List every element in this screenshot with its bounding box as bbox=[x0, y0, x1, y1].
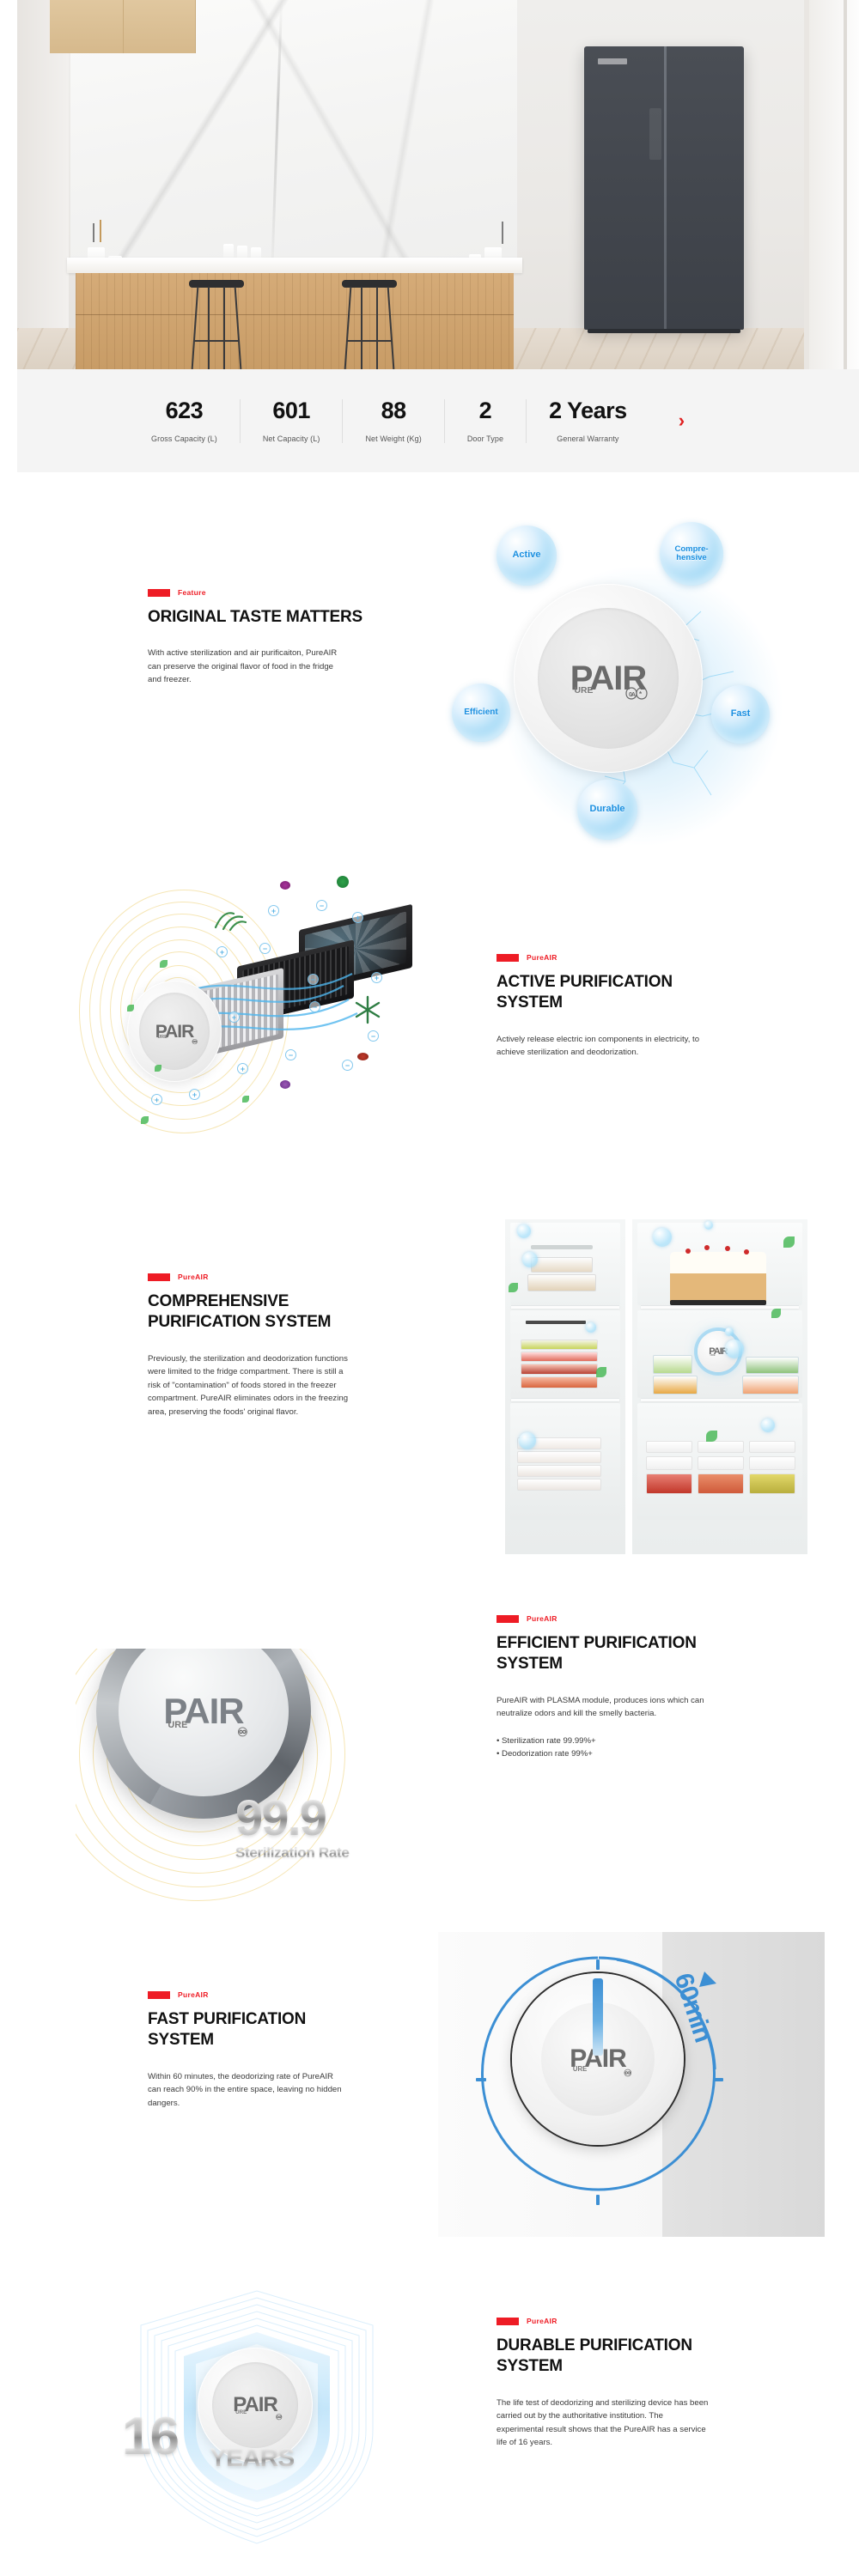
spec-item: 623 Gross Capacity (L) bbox=[129, 399, 241, 443]
section-bullets: • Sterilization rate 99.99%+ • Deodoriza… bbox=[497, 1735, 780, 1761]
spec-item: 601 Net Capacity (L) bbox=[241, 399, 344, 443]
dial-tick bbox=[596, 1959, 600, 1970]
bubble-label: Fast bbox=[731, 709, 751, 720]
food-container bbox=[531, 1257, 593, 1273]
pureair-logo-ure: URE bbox=[573, 2066, 587, 2073]
section-body: Within 60 minutes, the deodorizing rate … bbox=[148, 2070, 344, 2111]
next-arrow-icon[interactable]: › bbox=[679, 411, 685, 430]
pureair-logo: PAIR URE ♾ bbox=[155, 1023, 194, 1041]
service-life-number: 16 bbox=[122, 2406, 178, 2467]
negative-ion-icon: − bbox=[285, 1049, 296, 1060]
spec-label: Net Capacity (L) bbox=[263, 434, 320, 443]
tag-bar-icon bbox=[148, 1273, 170, 1281]
pureair-fresh-mark-icon: ♾ bbox=[237, 1726, 247, 1738]
island-seam bbox=[76, 314, 514, 315]
section-title: COMPREHENSIVE PURIFICATION SYSTEM bbox=[148, 1291, 362, 1334]
snowflake-icon bbox=[352, 994, 383, 1025]
section-body: Previously, the sterilization and deodor… bbox=[148, 1352, 350, 1419]
sterilization-rate-number: 99.9 bbox=[235, 1789, 326, 1847]
tag-bar-icon bbox=[497, 954, 519, 962]
section-title: EFFICIENT PURIFICATION SYSTEM bbox=[497, 1633, 711, 1675]
ion-bubble-icon bbox=[519, 1432, 536, 1449]
svg-text:*: * bbox=[639, 690, 643, 698]
positive-ion-icon: + bbox=[237, 1063, 248, 1074]
spec-label: General Warranty bbox=[549, 434, 627, 443]
section-efficient-purification: PAIR URE ♾ 99.9 Sterilization Rate PureA… bbox=[0, 1614, 859, 1941]
produce-bin bbox=[646, 1473, 692, 1494]
section-active-purification: PAIR URE ♾ + − + − + + − − bbox=[0, 867, 859, 1194]
negative-ion-icon: − bbox=[368, 1030, 379, 1042]
tag-label: PureAIR bbox=[527, 2317, 557, 2325]
pureair-logo-air: AIR bbox=[184, 1691, 243, 1731]
glass-container bbox=[653, 1376, 698, 1394]
section-tag: PureAIR bbox=[148, 1990, 431, 1999]
section-title: ACTIVE PURIFICATION SYSTEM bbox=[497, 972, 720, 1014]
odor-particle-icon bbox=[127, 1005, 134, 1012]
ion-bubble-icon bbox=[522, 1252, 538, 1267]
spec-value: 623 bbox=[151, 399, 217, 422]
bullet-item: • Sterilization rate 99.99%+ bbox=[497, 1735, 780, 1748]
pureair-logo-ure: URE bbox=[168, 1721, 187, 1730]
produce-bin bbox=[698, 1473, 744, 1494]
bubble-label: Efficient bbox=[464, 708, 497, 718]
svg-text:0A: 0A bbox=[629, 692, 636, 698]
negative-ion-icon: − bbox=[342, 1060, 353, 1071]
bar-stool-right bbox=[342, 280, 397, 369]
dial-tick bbox=[476, 2078, 486, 2081]
positive-ion-icon: + bbox=[228, 1012, 240, 1023]
pureair-logo: PAIR URE ♾ bbox=[233, 2395, 277, 2415]
dial-tick bbox=[713, 2078, 723, 2081]
pureair-logo: PAIR URE ♾ bbox=[163, 1693, 243, 1729]
pureair-logo-air: AIR bbox=[584, 2044, 626, 2073]
pureair-logo-air: AIR bbox=[165, 1022, 193, 1042]
pureair-logo-air: AIR bbox=[244, 2393, 277, 2416]
germ-icon bbox=[357, 1053, 369, 1060]
crisper-drawer bbox=[749, 1441, 795, 1453]
bubble-active: Active bbox=[497, 526, 557, 586]
section-durable-purification: PAIR URE ♾ 16 YEARS PureAIR DURABLE PURI… bbox=[0, 2267, 859, 2576]
fridge-interior-photo: PAIR URE bbox=[632, 1219, 807, 1554]
tag-bar-icon bbox=[497, 2318, 519, 2325]
section-text-block: Feature ORIGINAL TASTE MATTERS With acti… bbox=[148, 588, 431, 687]
positive-ion-icon: + bbox=[352, 912, 363, 923]
produce-bin bbox=[749, 1473, 795, 1494]
sterilization-rate-caption: Sterilization Rate bbox=[235, 1844, 350, 1862]
positive-ion-icon: + bbox=[216, 946, 228, 957]
glass-container bbox=[746, 1357, 799, 1374]
section-body: PureAIR with PLASMA module, produces ion… bbox=[497, 1694, 713, 1721]
tag-bar-icon bbox=[148, 589, 170, 597]
sixteen-years-shield-visual: PAIR URE ♾ 16 YEARS bbox=[86, 2275, 429, 2567]
section-text-block: PureAIR COMPREHENSIVE PURIFICATION SYSTE… bbox=[148, 1273, 431, 1419]
pureair-logo-ure: URE bbox=[235, 2410, 247, 2415]
odor-particle-icon bbox=[771, 1309, 781, 1318]
pureair-disc-inner: PAIR URE ♾ bbox=[212, 2362, 298, 2448]
ion-bubble-icon bbox=[517, 1224, 531, 1238]
negative-ion-icon: − bbox=[308, 974, 319, 985]
pureair-disc-inner: PAIR URE 0A * bbox=[538, 608, 679, 749]
odor-particle-icon bbox=[596, 1367, 606, 1377]
odor-particle-icon bbox=[242, 1096, 249, 1103]
food-container bbox=[521, 1376, 598, 1388]
section-body: The life test of deodorizing and sterili… bbox=[497, 2397, 710, 2450]
positive-ion-icon: + bbox=[268, 905, 279, 916]
ion-bubble-icon bbox=[704, 1221, 713, 1230]
bubble-durable: Durable bbox=[577, 780, 637, 840]
kitchen-island bbox=[76, 273, 514, 369]
ion-bubble-icon bbox=[725, 1340, 744, 1358]
pureair-disc: PAIR URE ♾ bbox=[127, 981, 222, 1082]
pureair-hub-diagram: PAIR URE 0A * Active Compre-hensive bbox=[455, 515, 859, 884]
window-frame bbox=[804, 0, 859, 369]
crisper-drawer bbox=[646, 1441, 692, 1453]
bubble-fast: Fast bbox=[711, 685, 770, 744]
pureair-logo-ure: URE bbox=[574, 687, 593, 696]
frozen-food-pack bbox=[517, 1479, 601, 1491]
spec-summary-bar: 623 Gross Capacity (L) 601 Net Capacity … bbox=[17, 369, 859, 472]
tag-label: PureAIR bbox=[178, 1990, 209, 1999]
bubble-label: Compre-hensive bbox=[660, 545, 723, 562]
hero-banner bbox=[0, 0, 859, 369]
section-original-taste: Feature ORIGINAL TASTE MATTERS With acti… bbox=[0, 515, 859, 884]
bar-stool-left bbox=[189, 280, 244, 369]
glass-container bbox=[653, 1355, 692, 1374]
spec-label: Gross Capacity (L) bbox=[151, 434, 217, 443]
section-title: ORIGINAL TASTE MATTERS bbox=[148, 607, 431, 628]
section-title: DURABLE PURIFICATION SYSTEM bbox=[497, 2336, 711, 2378]
tag-bar-icon bbox=[497, 1615, 519, 1623]
freezer-interior-photo bbox=[505, 1219, 625, 1554]
tag-label: Feature bbox=[178, 588, 206, 597]
section-text-block: PureAIR FAST PURIFICATION SYSTEM Within … bbox=[148, 1990, 431, 2110]
section-tag: PureAIR bbox=[497, 953, 780, 962]
spec-value: 2 bbox=[467, 399, 503, 422]
ion-bubble-icon bbox=[725, 1327, 734, 1336]
negative-ion-icon: − bbox=[309, 1001, 320, 1012]
tag-label: PureAIR bbox=[527, 1614, 557, 1623]
germ-icon bbox=[280, 1080, 290, 1089]
germ-icon bbox=[280, 881, 290, 890]
glass-container bbox=[742, 1376, 799, 1394]
bubble-label: Durable bbox=[590, 805, 625, 815]
spec-label: Door Type bbox=[467, 434, 503, 443]
left-wall bbox=[17, 0, 69, 369]
bubble-label: Active bbox=[512, 550, 540, 561]
plasma-module-exploded-illustration: PAIR URE ♾ + − + − + + − − bbox=[69, 867, 464, 1194]
tag-bar-icon bbox=[148, 1991, 170, 1999]
upper-cabinet bbox=[50, 0, 196, 53]
herb-icon bbox=[213, 908, 247, 933]
positive-ion-icon: + bbox=[151, 1094, 162, 1105]
germ-icon bbox=[337, 876, 349, 888]
ion-bubble-icon bbox=[761, 1419, 775, 1432]
negative-ion-icon: − bbox=[259, 943, 271, 954]
section-body: With active sterilization and air purifi… bbox=[148, 647, 341, 687]
pureair-fresh-mark-icon: 0A * bbox=[625, 687, 648, 702]
spec-value: 2 Years bbox=[549, 399, 627, 422]
service-life-unit: YEARS bbox=[210, 2444, 294, 2473]
spec-list: 623 Gross Capacity (L) 601 Net Capacity … bbox=[129, 399, 649, 443]
section-text-block: PureAIR ACTIVE PURIFICATION SYSTEM Activ… bbox=[497, 953, 780, 1060]
pureair-logo: PAIR URE 0A * bbox=[570, 661, 647, 696]
pureair-logo-ure: URE bbox=[157, 1036, 168, 1040]
spec-item: 88 Net Weight (Kg) bbox=[343, 399, 444, 443]
dial-needle bbox=[593, 1978, 603, 2056]
section-tag: Feature bbox=[148, 588, 431, 597]
crisper-drawer bbox=[698, 1441, 744, 1453]
fridge-freezer-interior-photos: PAIR URE bbox=[505, 1219, 807, 1554]
crisper-drawer bbox=[698, 1456, 744, 1470]
crisper-drawer bbox=[749, 1456, 795, 1470]
refrigerator-product bbox=[584, 46, 744, 330]
section-tag: PureAIR bbox=[148, 1273, 431, 1281]
spec-value: 88 bbox=[365, 399, 421, 422]
control-panel bbox=[649, 108, 661, 160]
positive-ion-icon: + bbox=[371, 972, 382, 983]
odor-particle-icon bbox=[160, 960, 168, 968]
section-comprehensive-purification: PureAIR COMPREHENSIVE PURIFICATION SYSTE… bbox=[0, 1219, 859, 1580]
spec-value: 601 bbox=[263, 399, 320, 422]
cake-item bbox=[670, 1252, 766, 1303]
section-tag: PureAIR bbox=[497, 1614, 780, 1623]
frozen-food-pack bbox=[517, 1451, 601, 1463]
pureair-fresh-mark-icon: ♾ bbox=[624, 2069, 631, 2079]
crisper-drawer bbox=[646, 1456, 692, 1470]
section-tag: PureAIR bbox=[497, 2317, 780, 2325]
negative-ion-icon: − bbox=[316, 900, 327, 911]
spec-item: 2 Door Type bbox=[445, 399, 527, 443]
odor-particle-icon bbox=[509, 1283, 518, 1292]
tag-label: PureAIR bbox=[178, 1273, 209, 1281]
brand-logo-on-door bbox=[598, 58, 627, 64]
section-body: Actively release electric ion components… bbox=[497, 1033, 711, 1060]
bullet-item: • Deodorization rate 99%+ bbox=[497, 1747, 780, 1761]
pureair-disc-inner: PAIR URE ♾ bbox=[139, 993, 210, 1070]
odor-particle-icon bbox=[155, 1065, 161, 1072]
frozen-food-pack bbox=[517, 1465, 601, 1477]
food-container bbox=[527, 1274, 596, 1291]
food-container bbox=[521, 1364, 598, 1375]
pureair-disc: PAIR URE 0A * bbox=[514, 584, 703, 773]
fridge-base bbox=[588, 329, 740, 333]
positive-ion-icon: + bbox=[189, 1089, 200, 1100]
pureair-fresh-mark-icon: ♾ bbox=[276, 2414, 282, 2421]
food-container bbox=[521, 1352, 598, 1362]
section-text-block: PureAIR EFFICIENT PURIFICATION SYSTEM Pu… bbox=[497, 1614, 780, 1761]
ion-bubble-icon bbox=[586, 1322, 596, 1333]
spec-label: Net Weight (Kg) bbox=[365, 434, 421, 443]
sixty-minute-dial-visual: PAIR URE ♾ 60min bbox=[438, 1932, 825, 2237]
food-container bbox=[521, 1340, 598, 1350]
sterilization-rate-visual: PAIR URE ♾ 99.9 Sterilization Rate bbox=[76, 1649, 419, 1906]
ion-bubble-icon bbox=[653, 1228, 672, 1247]
pureair-fresh-mark-icon: ♾ bbox=[192, 1039, 197, 1046]
tag-label: PureAIR bbox=[527, 953, 557, 962]
odor-particle-icon bbox=[783, 1236, 795, 1248]
bubble-comprehensive: Compre-hensive bbox=[660, 522, 723, 586]
odor-particle-icon bbox=[706, 1431, 717, 1442]
counter-top bbox=[67, 258, 522, 273]
section-fast-purification: PureAIR FAST PURIFICATION SYSTEM Within … bbox=[0, 1941, 859, 2250]
pureair-logo-ure: URE bbox=[710, 1354, 716, 1357]
hero-product-photo bbox=[17, 0, 859, 369]
bubble-efficient: Efficient bbox=[452, 683, 510, 742]
section-text-block: PureAIR DURABLE PURIFICATION SYSTEM The … bbox=[497, 2317, 780, 2450]
section-title: FAST PURIFICATION SYSTEM bbox=[148, 2009, 362, 2051]
dial-tick bbox=[596, 2195, 600, 2205]
spec-item: 2 Years General Warranty bbox=[527, 399, 649, 443]
odor-particle-icon bbox=[141, 1116, 149, 1124]
